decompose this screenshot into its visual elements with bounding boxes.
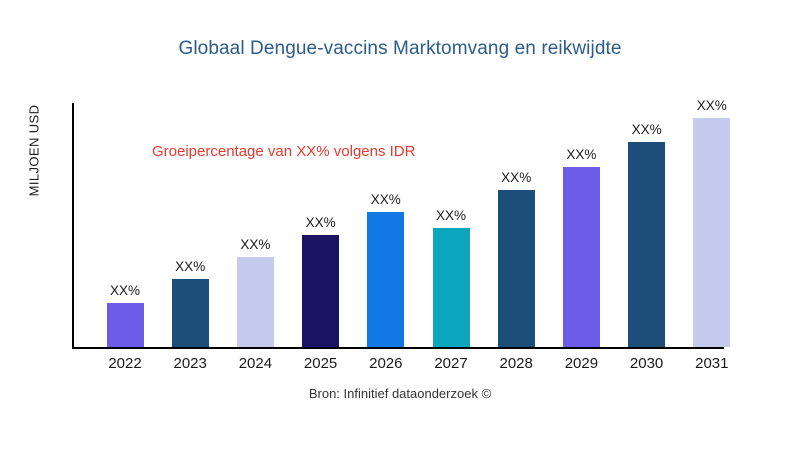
bar-2026[interactable]: [367, 212, 404, 347]
source-note: Bron: Infinitief dataonderzoek ©: [0, 386, 800, 401]
bar-2031[interactable]: [693, 118, 730, 347]
bar-value-label-2027: XX%: [436, 208, 466, 223]
bar-2022[interactable]: [107, 303, 144, 347]
bar-value-label-2031: XX%: [697, 98, 727, 113]
bar-value-label-2030: XX%: [632, 122, 662, 137]
bar-value-label-2023: XX%: [175, 259, 205, 274]
x-axis-line: [72, 347, 724, 349]
chart-title: Globaal Dengue-vaccins Marktomvang en re…: [0, 38, 800, 60]
bar-value-label-2026: XX%: [371, 192, 401, 207]
bar-value-label-2022: XX%: [110, 283, 140, 298]
bar-value-label-2025: XX%: [306, 215, 336, 230]
bar-2030[interactable]: [628, 142, 665, 347]
chart-container: Globaal Dengue-vaccins Marktomvang en re…: [0, 0, 800, 450]
bar-value-label-2028: XX%: [501, 170, 531, 185]
bar-2029[interactable]: [563, 167, 600, 347]
y-axis-label: MILJOEN USD: [27, 51, 42, 251]
bar-2025[interactable]: [302, 235, 339, 347]
growth-rate-annotation: Groeipercentage van XX% volgens IDR: [152, 143, 415, 160]
bar-2027[interactable]: [433, 228, 470, 347]
bar-2023[interactable]: [172, 279, 209, 347]
bar-2024[interactable]: [237, 257, 274, 347]
bar-2028[interactable]: [498, 190, 535, 347]
x-tick-label-2031: 2031: [672, 355, 752, 372]
plot-area: Groeipercentage van XX% volgens IDR XX%X…: [72, 100, 800, 347]
bar-value-label-2029: XX%: [566, 147, 596, 162]
bar-value-label-2024: XX%: [240, 237, 270, 252]
